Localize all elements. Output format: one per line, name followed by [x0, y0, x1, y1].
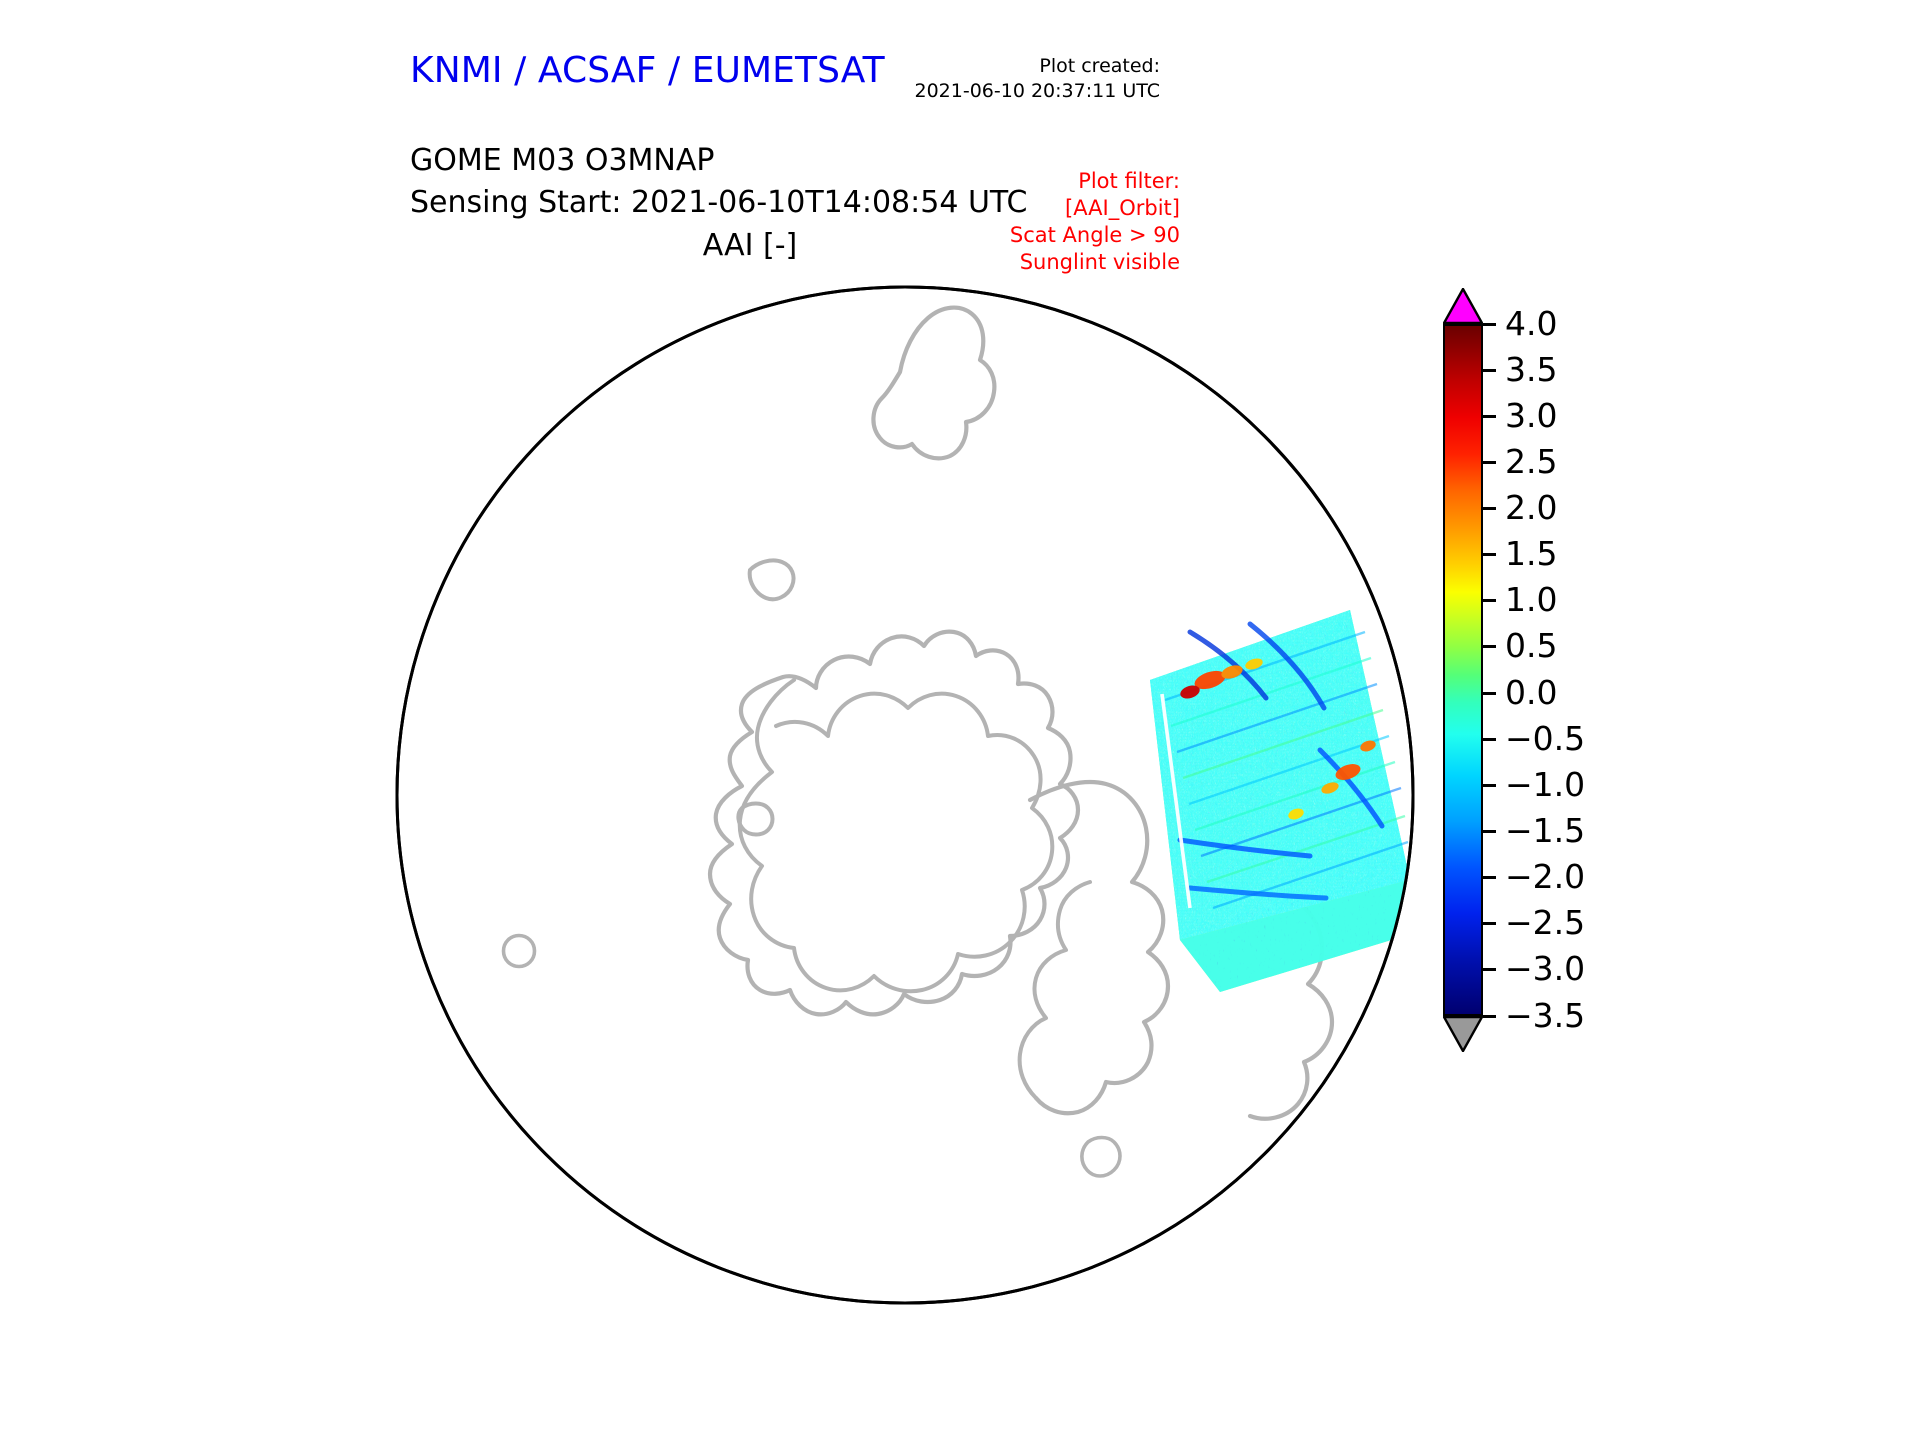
colorbar-tick-label: −2.5 [1505, 903, 1585, 942]
colorbar-tick-mark [1483, 461, 1496, 464]
colorbar-tick-label: −3.5 [1505, 996, 1585, 1035]
colorbar-tick-label: 0.0 [1505, 673, 1557, 712]
colorbar: 4.03.53.02.52.01.51.00.50.0−0.5−1.0−1.5−… [1443, 288, 1773, 1098]
colorbar-tick-label: 3.5 [1505, 350, 1557, 389]
colorbar-tick-mark [1483, 553, 1496, 556]
colorbar-tick-mark [1483, 599, 1496, 602]
colorbar-tick-mark [1483, 1015, 1496, 1018]
colorbar-tick-label: 0.5 [1505, 626, 1557, 665]
colorbar-tick-mark [1483, 415, 1496, 418]
colorbar-tick-mark [1483, 369, 1496, 372]
plot-filter-label: Plot filter: [840, 168, 1180, 195]
plot-filter-name: [AAI_Orbit] [840, 195, 1180, 222]
colorbar-tick-mark [1483, 784, 1496, 787]
plot-filter-sunglint: Sunglint visible [840, 249, 1180, 276]
colorbar-tick-mark [1483, 692, 1496, 695]
colorbar-tick-label: −0.5 [1505, 719, 1585, 758]
map-plot-area [390, 280, 1420, 1310]
plot-filter-scat-angle: Scat Angle > 90 [840, 222, 1180, 249]
colorbar-tick-mark [1483, 507, 1496, 510]
plot-created-timestamp: 2021-06-10 20:37:11 UTC [820, 79, 1160, 104]
organisation-title: KNMI / ACSAF / EUMETSAT [410, 50, 885, 91]
colorbar-tick-mark [1483, 738, 1496, 741]
polar-map [390, 280, 1420, 1310]
colorbar-tick-label: 1.5 [1505, 534, 1557, 573]
colorbar-under-arrow [1443, 1016, 1483, 1052]
plot-created-block: Plot created: 2021-06-10 20:37:11 UTC [820, 54, 1160, 104]
colorbar-tick-label: 2.5 [1505, 442, 1557, 481]
colorbar-gradient [1443, 324, 1483, 1016]
colorbar-tick-mark [1483, 645, 1496, 648]
colorbar-tick-label: 1.0 [1505, 580, 1557, 619]
colorbar-tick-label: −3.0 [1505, 949, 1585, 988]
plot-created-label: Plot created: [820, 54, 1160, 79]
colorbar-ticks: 4.03.53.02.52.01.51.00.50.0−0.5−1.0−1.5−… [1483, 324, 1763, 1016]
colorbar-over-arrow [1443, 288, 1483, 324]
colorbar-tick-label: −1.5 [1505, 811, 1585, 850]
colorbar-tick-mark [1483, 830, 1496, 833]
colorbar-tick-mark [1483, 968, 1496, 971]
colorbar-tick-mark [1483, 922, 1496, 925]
colorbar-tick-label: −2.0 [1505, 857, 1585, 896]
colorbar-tick-label: 4.0 [1505, 304, 1557, 343]
colorbar-tick-label: 3.0 [1505, 396, 1557, 435]
colorbar-tick-label: 2.0 [1505, 488, 1557, 527]
plot-filter-block: Plot filter: [AAI_Orbit] Scat Angle > 90… [840, 168, 1180, 276]
colorbar-tick-label: −1.0 [1505, 765, 1585, 804]
colorbar-tick-mark [1483, 876, 1496, 879]
colorbar-tick-mark [1483, 323, 1496, 326]
